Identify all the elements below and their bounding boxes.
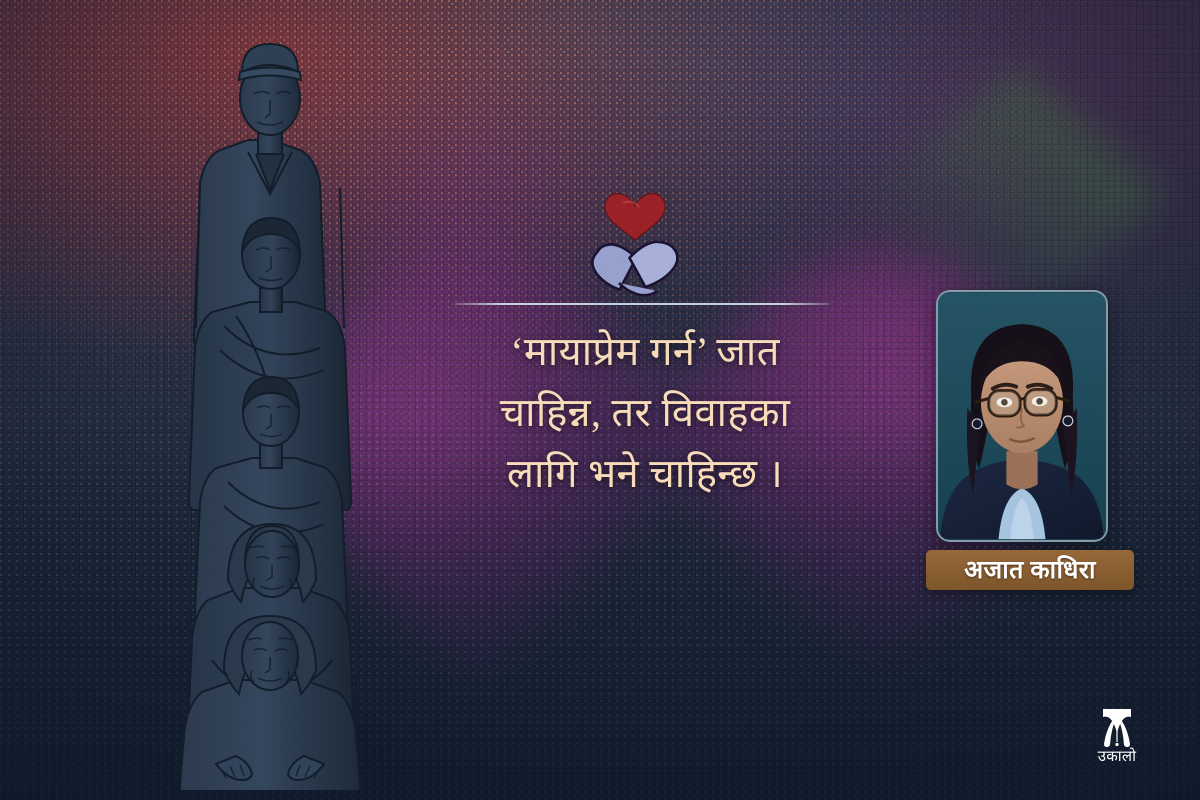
generations-totem-illustration	[150, 20, 390, 790]
quote-divider	[455, 303, 829, 305]
quote-line-1: ‘मायाप्रेम गर्न’ जात	[395, 322, 895, 383]
heart-and-hands-emblem	[575, 185, 695, 300]
heart-icon	[605, 194, 665, 240]
quote-line-2: चाहिन्न, तर विवाहका	[395, 383, 895, 444]
brand-logo: उकालो	[1084, 706, 1150, 776]
author-name-label: अजात काधिरा	[964, 558, 1096, 583]
clasped-hands-icon	[591, 240, 679, 295]
quote-text: ‘मायाप्रेम गर्न’ जात चाहिन्न, तर विवाहका…	[395, 322, 895, 504]
author-portrait	[936, 290, 1108, 542]
quote-line-3: लागि भने चाहिन्छ ।	[395, 444, 895, 505]
brand-wordmark: उकालो	[1098, 750, 1137, 765]
author-name-badge: अजात काधिरा	[926, 550, 1134, 590]
poster-canvas: ‘मायाप्रेम गर्न’ जात चाहिन्न, तर विवाहका…	[0, 0, 1200, 800]
ukaalo-mark-icon	[1097, 706, 1137, 748]
